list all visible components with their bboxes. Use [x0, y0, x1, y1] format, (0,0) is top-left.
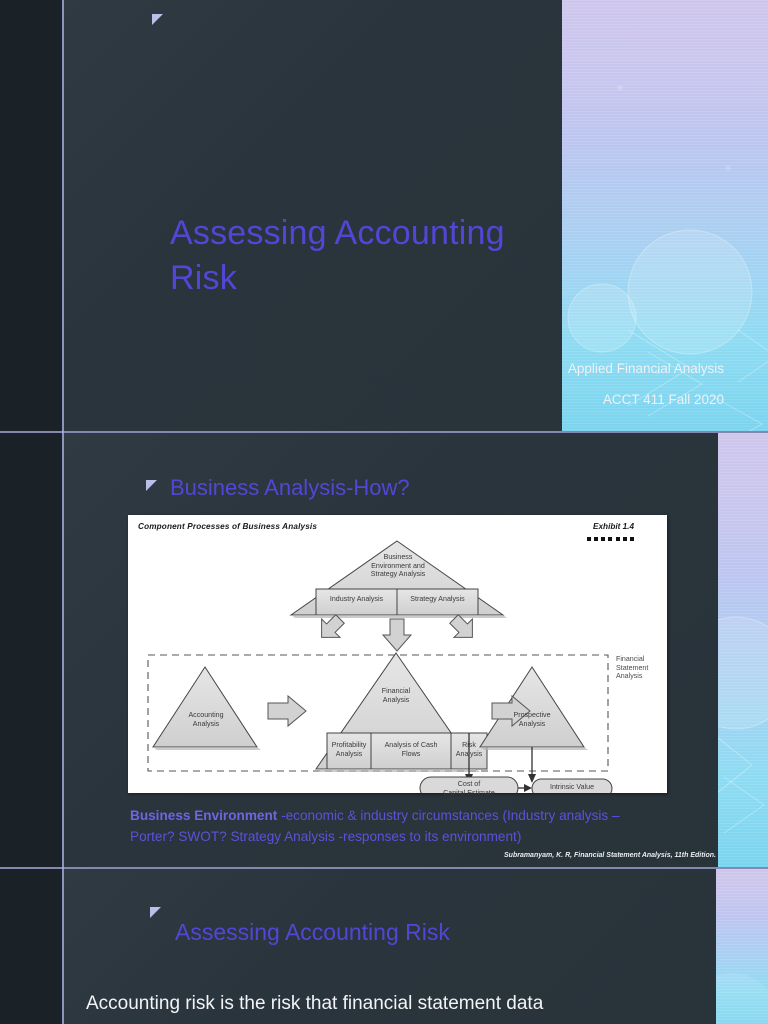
figure-label-financial-statement-analysis: Financial Statement Analysis [616, 655, 666, 681]
figure-label-profitability-analysis: Profitability Analysis [325, 741, 373, 758]
vertical-margin-rule [62, 0, 64, 1024]
slide3-heading: Assessing Accounting Risk [175, 919, 450, 946]
slide2-citation: Subramanyam, K. R, Financial Statement A… [504, 852, 716, 859]
flag-marker-icon [152, 14, 163, 25]
figure-label-risk-analysis: Risk Analysis [450, 741, 488, 758]
figure-label-cost-of-capital-estimate: Cost of Capital Estimate [420, 780, 518, 797]
figure-label-strategy-analysis: Strategy Analysis [397, 595, 478, 604]
slide3-gradient-panel [716, 869, 768, 1024]
slide3-body-text: Accounting risk is the risk that financi… [86, 987, 698, 1021]
figure-label-financial-analysis: Financial Analysis [360, 687, 432, 704]
figure-label-accounting-analysis: Accounting Analysis [170, 711, 242, 728]
slide-title[interactable]: Assessing Accounting Risk Applied Financ… [62, 0, 768, 431]
slide1-subtitle-term: ACCT 411 Fall 2020 [603, 392, 724, 407]
figure-label-analysis-of-cash-flows: Analysis of Cash Flows [371, 741, 451, 758]
left-margin-gutter [0, 0, 62, 1024]
figure-label-top-triangle: Business Environment and Strategy Analys… [344, 553, 452, 579]
slide-business-analysis[interactable]: Business Analysis-How? Component Process… [62, 433, 768, 867]
slide2-body-lead: Business Environment [130, 808, 277, 823]
slide1-subtitle-course: Applied Financial Analysis [568, 361, 724, 376]
presentation-page: Assessing Accounting Risk Applied Financ… [0, 0, 768, 1024]
decorative-shapes [716, 869, 768, 1024]
figure-label-prospective-analysis: Prospective Analysis [496, 711, 568, 728]
flag-marker-icon [146, 480, 157, 491]
slide-separator-2 [0, 867, 768, 869]
slide1-title: Assessing Accounting Risk [170, 211, 550, 301]
slide2-heading: Business Analysis-How? [170, 475, 410, 501]
slide-assessing-accounting-risk[interactable]: Assessing Accounting Risk Accounting ris… [62, 869, 768, 1024]
exhibit-figure: Component Processes of Business Analysis… [128, 515, 667, 793]
decorative-shapes [718, 433, 768, 867]
figure-label-industry-analysis: Industry Analysis [316, 595, 397, 604]
figure-label-intrinsic-value: Intrinsic Value [532, 783, 612, 792]
slide2-body-text: Business Environment -economic & industr… [130, 805, 650, 847]
slide2-gradient-panel [718, 433, 768, 867]
flag-marker-icon [150, 907, 161, 918]
slide-separator-1 [0, 431, 768, 433]
